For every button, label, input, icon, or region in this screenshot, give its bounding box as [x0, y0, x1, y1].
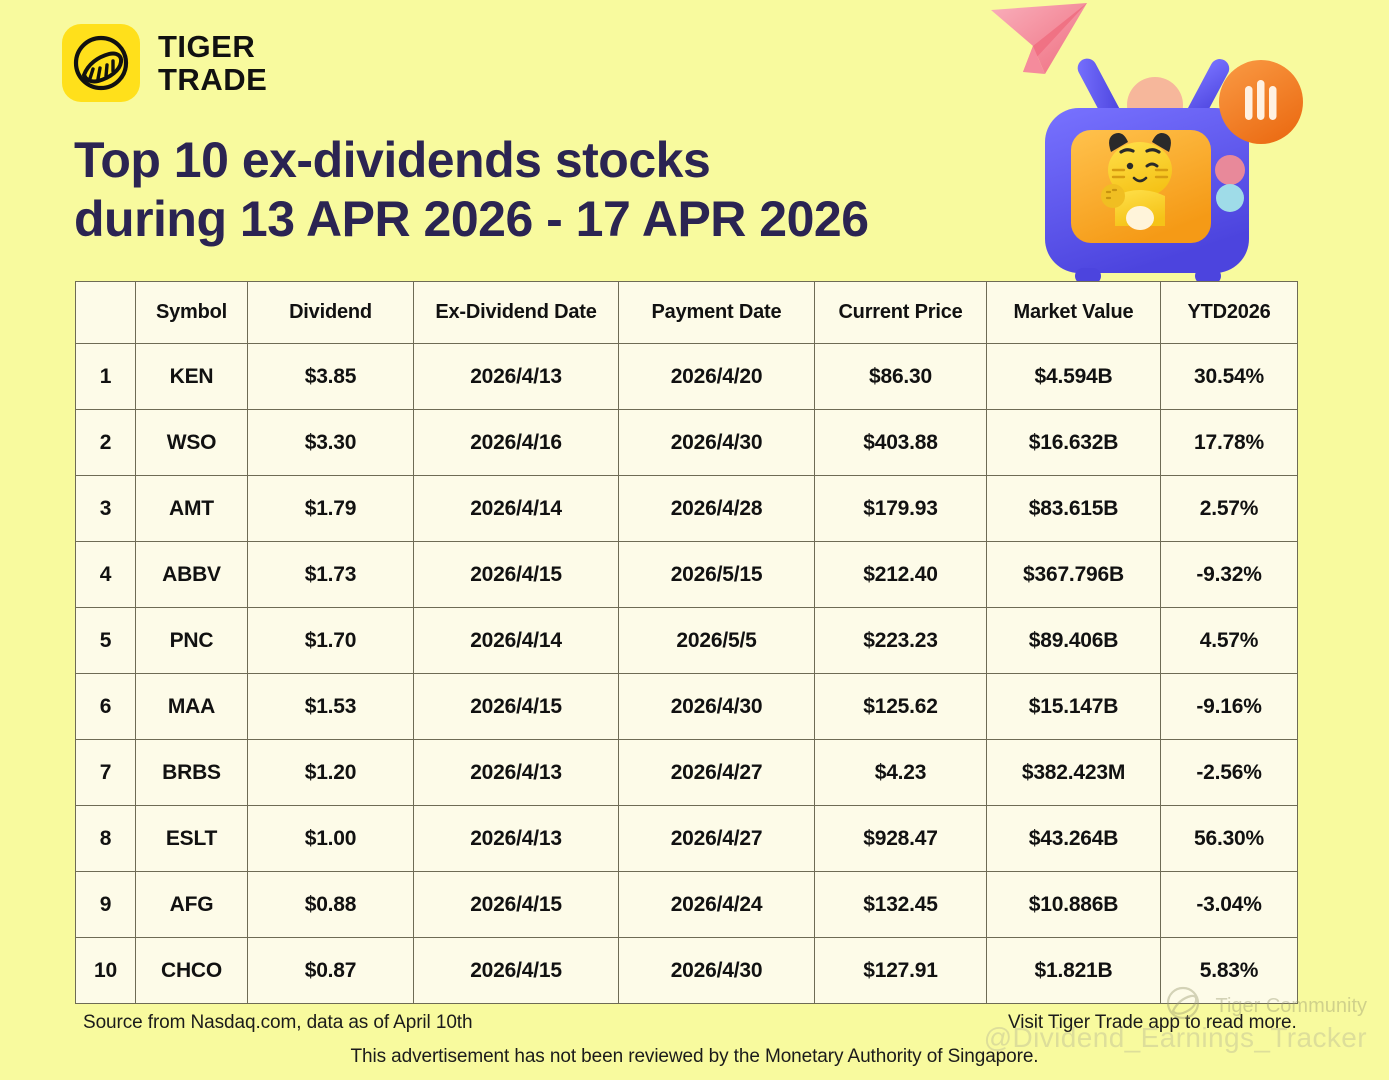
- footer-visit-note: Visit Tiger Trade app to read more.: [1008, 1012, 1297, 1034]
- cell-ytd2026: -2.56%: [1161, 740, 1298, 806]
- cell-index: 4: [76, 542, 136, 608]
- cell-market-value: $1.821B: [987, 938, 1161, 1004]
- cell-dividend: $3.85: [248, 344, 414, 410]
- cell-index: 1: [76, 344, 136, 410]
- cell-symbol: KEN: [136, 344, 248, 410]
- cell-market-value: $10.886B: [987, 872, 1161, 938]
- poster-root: { "brand": { "name": "TIGER\nTRADE", "lo…: [0, 0, 1389, 1080]
- cell-symbol: WSO: [136, 410, 248, 476]
- cell-ex-dividend-date: 2026/4/13: [414, 740, 619, 806]
- cell-ex-dividend-date: 2026/4/14: [414, 476, 619, 542]
- cell-current-price: $403.88: [815, 410, 987, 476]
- cell-index: 6: [76, 674, 136, 740]
- cell-ex-dividend-date: 2026/4/13: [414, 806, 619, 872]
- cell-current-price: $179.93: [815, 476, 987, 542]
- cell-payment-date: 2026/4/27: [619, 806, 815, 872]
- column-header-ex-dividend-date: Ex-Dividend Date: [414, 282, 619, 344]
- cell-ytd2026: 30.54%: [1161, 344, 1298, 410]
- column-header-index: [76, 282, 136, 344]
- tiger-brokers-badge-icon: [1219, 60, 1303, 144]
- cell-index: 9: [76, 872, 136, 938]
- cell-symbol: MAA: [136, 674, 248, 740]
- cell-market-value: $4.594B: [987, 344, 1161, 410]
- cell-ytd2026: 17.78%: [1161, 410, 1298, 476]
- cell-market-value: $367.796B: [987, 542, 1161, 608]
- footer-disclaimer: This advertisement has not been reviewed…: [0, 1046, 1389, 1068]
- cell-ytd2026: 56.30%: [1161, 806, 1298, 872]
- cell-ex-dividend-date: 2026/4/15: [414, 674, 619, 740]
- table-row: 1KEN$3.852026/4/132026/4/20$86.30$4.594B…: [76, 344, 1298, 410]
- cell-ytd2026: -9.16%: [1161, 674, 1298, 740]
- dividends-table: Symbol Dividend Ex-Dividend Date Payment…: [75, 281, 1298, 1004]
- cell-index: 3: [76, 476, 136, 542]
- cell-ytd2026: -9.32%: [1161, 542, 1298, 608]
- cell-ex-dividend-date: 2026/4/14: [414, 608, 619, 674]
- cell-current-price: $125.62: [815, 674, 987, 740]
- cell-dividend: $0.87: [248, 938, 414, 1004]
- table-row: 4ABBV$1.732026/4/152026/5/15$212.40$367.…: [76, 542, 1298, 608]
- cell-dividend: $1.00: [248, 806, 414, 872]
- table-row: 9AFG$0.882026/4/152026/4/24$132.45$10.88…: [76, 872, 1298, 938]
- brand-header: TIGER TRADE: [62, 24, 267, 102]
- cell-payment-date: 2026/5/15: [619, 542, 815, 608]
- cell-ex-dividend-date: 2026/4/15: [414, 542, 619, 608]
- cell-index: 2: [76, 410, 136, 476]
- cell-ytd2026: 5.83%: [1161, 938, 1298, 1004]
- cell-dividend: $1.20: [248, 740, 414, 806]
- column-header-symbol: Symbol: [136, 282, 248, 344]
- cell-payment-date: 2026/4/30: [619, 410, 815, 476]
- cell-dividend: $3.30: [248, 410, 414, 476]
- cell-ytd2026: 4.57%: [1161, 608, 1298, 674]
- cell-current-price: $4.23: [815, 740, 987, 806]
- cell-market-value: $382.423M: [987, 740, 1161, 806]
- cell-current-price: $212.40: [815, 542, 987, 608]
- cell-symbol: AMT: [136, 476, 248, 542]
- footer-source-note: Source from Nasdaq.com, data as of April…: [83, 1012, 472, 1034]
- paper-plane-icon: [991, 3, 1087, 74]
- cell-symbol: ESLT: [136, 806, 248, 872]
- cell-index: 7: [76, 740, 136, 806]
- table-row: 8ESLT$1.002026/4/132026/4/27$928.47$43.2…: [76, 806, 1298, 872]
- cell-dividend: $1.79: [248, 476, 414, 542]
- table-row: 7BRBS$1.202026/4/132026/4/27$4.23$382.42…: [76, 740, 1298, 806]
- cell-payment-date: 2026/4/24: [619, 872, 815, 938]
- cell-symbol: BRBS: [136, 740, 248, 806]
- dividends-table-container: Symbol Dividend Ex-Dividend Date Payment…: [75, 281, 1297, 1004]
- table-row: 5PNC$1.702026/4/142026/5/5$223.23$89.406…: [76, 608, 1298, 674]
- cell-symbol: PNC: [136, 608, 248, 674]
- cell-ex-dividend-date: 2026/4/15: [414, 872, 619, 938]
- tv-antenna-icon: [1074, 55, 1232, 139]
- cell-current-price: $86.30: [815, 344, 987, 410]
- table-row: 10CHCO$0.872026/4/152026/4/30$127.91$1.8…: [76, 938, 1298, 1004]
- cell-market-value: $15.147B: [987, 674, 1161, 740]
- cell-dividend: $1.70: [248, 608, 414, 674]
- column-header-ytd2026: YTD2026: [1161, 282, 1298, 344]
- brand-name: TIGER TRADE: [158, 30, 267, 97]
- cell-index: 8: [76, 806, 136, 872]
- cell-symbol: AFG: [136, 872, 248, 938]
- cell-current-price: $132.45: [815, 872, 987, 938]
- tiger-coin-logo-icon: [62, 24, 140, 102]
- column-header-market-value: Market Value: [987, 282, 1161, 344]
- cell-ex-dividend-date: 2026/4/13: [414, 344, 619, 410]
- cell-payment-date: 2026/4/28: [619, 476, 815, 542]
- cell-dividend: $0.88: [248, 872, 414, 938]
- cell-market-value: $89.406B: [987, 608, 1161, 674]
- cell-current-price: $928.47: [815, 806, 987, 872]
- cell-ytd2026: -3.04%: [1161, 872, 1298, 938]
- cell-payment-date: 2026/4/27: [619, 740, 815, 806]
- cell-payment-date: 2026/5/5: [619, 608, 815, 674]
- hero-illustration: [983, 0, 1383, 282]
- retro-tv-icon: [1045, 108, 1249, 282]
- table-row: 2WSO$3.302026/4/162026/4/30$403.88$16.63…: [76, 410, 1298, 476]
- cell-ex-dividend-date: 2026/4/16: [414, 410, 619, 476]
- table-row: 6MAA$1.532026/4/152026/4/30$125.62$15.14…: [76, 674, 1298, 740]
- cell-index: 10: [76, 938, 136, 1004]
- cell-market-value: $43.264B: [987, 806, 1161, 872]
- table-row: 3AMT$1.792026/4/142026/4/28$179.93$83.61…: [76, 476, 1298, 542]
- cell-symbol: ABBV: [136, 542, 248, 608]
- page-title: Top 10 ex-dividends stocks during 13 APR…: [74, 131, 869, 248]
- cell-market-value: $83.615B: [987, 476, 1161, 542]
- column-header-dividend: Dividend: [248, 282, 414, 344]
- cell-ytd2026: 2.57%: [1161, 476, 1298, 542]
- cell-payment-date: 2026/4/20: [619, 344, 815, 410]
- column-header-payment-date: Payment Date: [619, 282, 815, 344]
- cell-index: 5: [76, 608, 136, 674]
- cell-payment-date: 2026/4/30: [619, 938, 815, 1004]
- cell-dividend: $1.73: [248, 542, 414, 608]
- cell-symbol: CHCO: [136, 938, 248, 1004]
- column-header-current-price: Current Price: [815, 282, 987, 344]
- cell-current-price: $223.23: [815, 608, 987, 674]
- cell-payment-date: 2026/4/30: [619, 674, 815, 740]
- table-header-row: Symbol Dividend Ex-Dividend Date Payment…: [76, 282, 1298, 344]
- cell-current-price: $127.91: [815, 938, 987, 1004]
- cell-dividend: $1.53: [248, 674, 414, 740]
- cell-market-value: $16.632B: [987, 410, 1161, 476]
- cell-ex-dividend-date: 2026/4/15: [414, 938, 619, 1004]
- tiger-mascot-icon: [1101, 133, 1172, 230]
- table-body: 1KEN$3.852026/4/132026/4/20$86.30$4.594B…: [76, 344, 1298, 1004]
